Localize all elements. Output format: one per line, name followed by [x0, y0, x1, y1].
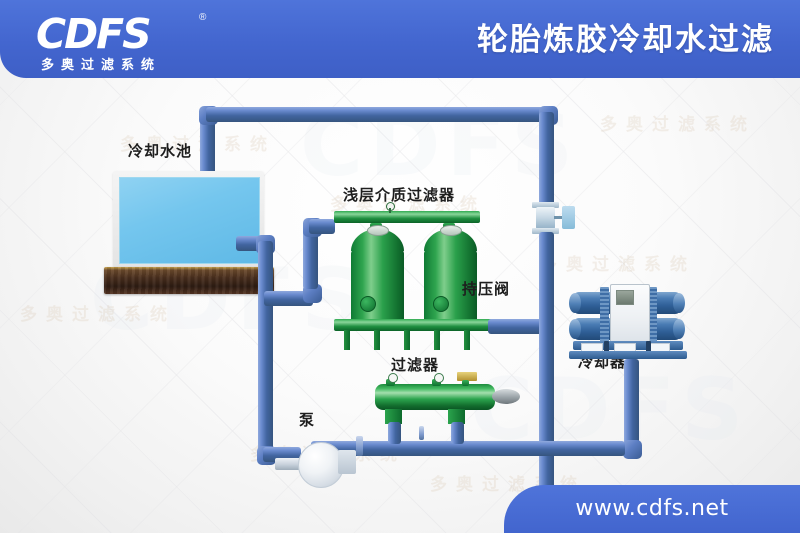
label-cooling-pool: 冷却水池 [128, 140, 192, 161]
tank-2-manhole [440, 225, 462, 236]
pump-discharge-flange [356, 436, 363, 456]
flow-diagram: 冷却水池 浅层介质过滤器 [0, 78, 800, 533]
cooling-pool-base [104, 267, 274, 294]
cooler-vent-grille [600, 287, 609, 343]
pressure-sustaining-valve[interactable] [536, 207, 555, 229]
page-footer: www.cdfs.net [504, 485, 800, 533]
logo-subtitle: 多奥过滤系统 [41, 54, 161, 73]
filter-vessel-body [375, 384, 495, 410]
filter-valve-nozzle [462, 380, 469, 386]
pipe-cooler-downcomer [624, 359, 639, 447]
filter-leg [374, 330, 380, 350]
label-pump: 泵 [299, 409, 315, 430]
pipe-elbow [623, 440, 642, 459]
pipe-top-run [206, 107, 550, 122]
cooler-shell-cap [569, 319, 581, 339]
cooler-shell-cap [673, 293, 685, 313]
pump-motor [338, 450, 356, 474]
diagram-page: CDFS CDFS CDFS 多奥过滤系统 多奥过滤系统 多奥过滤系统 多奥过滤… [0, 0, 800, 533]
pipe-to-tank-inlet [309, 219, 335, 234]
cooler-shell-cap [673, 319, 685, 339]
cooler-skid [569, 351, 687, 359]
pipe-downcomer-valve [539, 112, 554, 216]
logo-text: CDFS [36, 10, 150, 58]
page-header: CDFS ® 多奥过滤系统 轮胎炼胶冷却水过滤 [0, 0, 800, 78]
pipe-left-main-down [258, 241, 273, 454]
filter-gauge-icon [388, 373, 398, 383]
cooler-shell-cap [569, 293, 581, 313]
filter-leg [344, 330, 350, 350]
filter-leg [404, 330, 410, 350]
tank-2-sight-port [433, 296, 449, 312]
tank-1-manhole [367, 225, 389, 236]
label-pressure-valve: 持压阀 [462, 278, 510, 299]
website-url[interactable]: www.cdfs.net [504, 496, 800, 521]
filter-leg [464, 330, 470, 350]
tank-1-sight-port [360, 296, 376, 312]
valve-actuator[interactable] [562, 206, 575, 229]
gauge-stem [389, 208, 391, 213]
label-filter: 过滤器 [391, 354, 439, 375]
registered-mark-icon: ® [199, 12, 206, 23]
brand-logo[interactable]: CDFS ® 多奥过滤系统 [36, 10, 266, 72]
tank-1-body [351, 248, 404, 326]
cooler-control-display [616, 290, 634, 305]
label-media-filter: 浅层介质过滤器 [343, 184, 455, 205]
filter-drain-stub [419, 426, 424, 440]
filter-gauge-icon [434, 373, 444, 383]
filter-leg-pipe [388, 422, 401, 444]
pipe-filter-outlet [488, 319, 545, 334]
filter-top-manifold [334, 211, 480, 223]
page-title: 轮胎炼胶冷却水过滤 [477, 14, 774, 59]
filter-leg-pipe [451, 422, 464, 444]
pipe-valve-downcomer [539, 232, 554, 522]
filter-leg [434, 330, 440, 350]
filter-vessel-end-cap [492, 389, 520, 404]
